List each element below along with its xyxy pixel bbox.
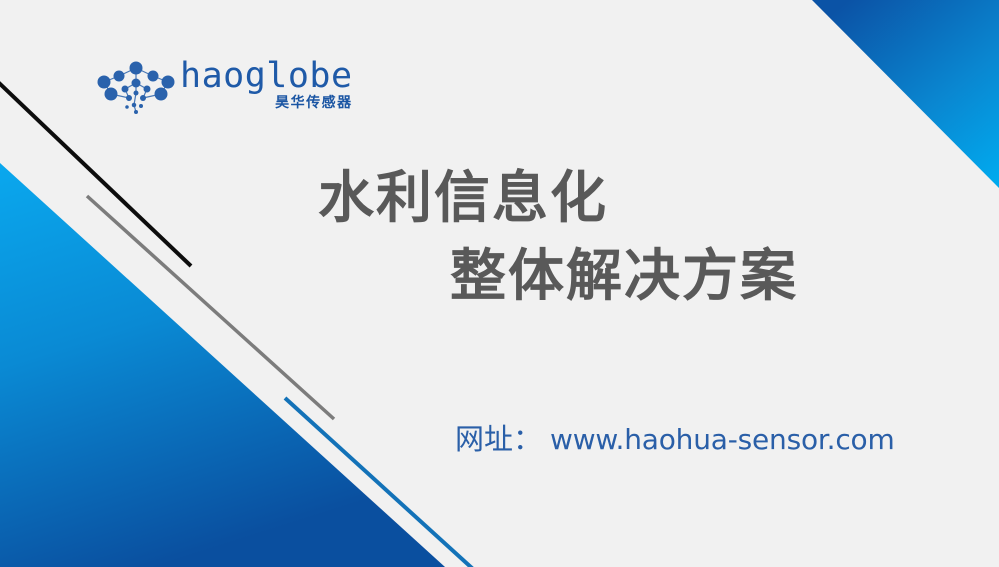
website-label: 网址： — [455, 420, 542, 458]
network-nodes-logo-icon — [96, 60, 176, 116]
website-line: 网址： www.haohua-sensor.com — [455, 420, 895, 459]
title-line-2: 整体解决方案 — [0, 238, 999, 316]
page-title: 水利信息化 整体解决方案 — [0, 160, 999, 316]
brand-subtitle-cn: 昊华传感器 — [275, 95, 353, 111]
brand-wordmark: haoglobe — [180, 58, 353, 94]
slide-canvas: haoglobe 昊华传感器 水利信息化 整体解决方案 网址： www.haoh… — [0, 0, 999, 567]
title-line-1: 水利信息化 — [0, 160, 999, 238]
website-url[interactable]: www.haohua-sensor.com — [550, 421, 895, 459]
blue-accent-line — [285, 398, 473, 567]
brand-logo[interactable]: haoglobe 昊华传感器 — [96, 58, 321, 120]
